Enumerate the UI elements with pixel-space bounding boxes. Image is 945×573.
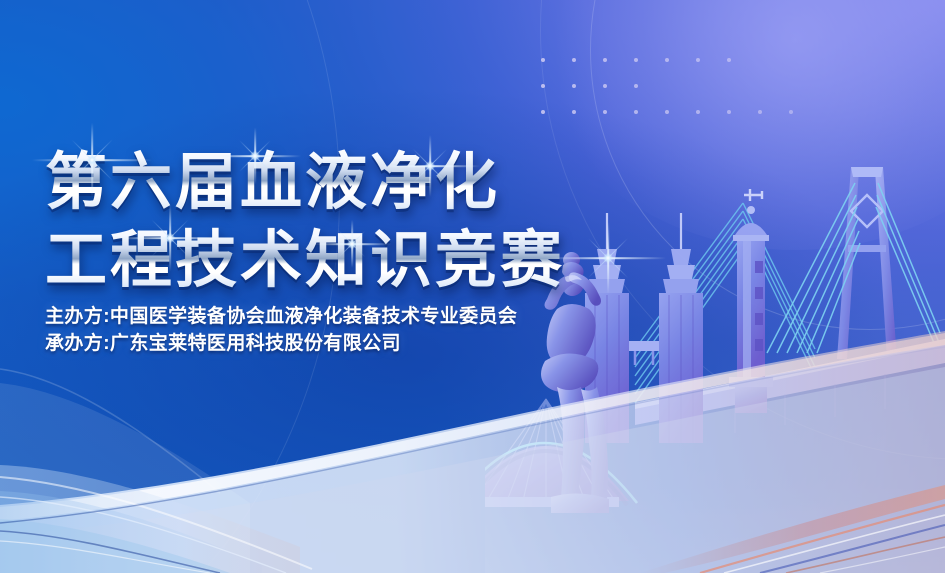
poster-title: 第六届血液净化 工程技术知识竞赛: [45, 146, 685, 298]
dot-grid-dot: [634, 110, 638, 114]
dot-grid-dot: [665, 58, 669, 62]
dot-grid-dot: [696, 110, 700, 114]
dot-grid-dot: [541, 84, 545, 88]
dot-grid-dot: [634, 84, 638, 88]
dot-grid-dot: [541, 58, 545, 62]
dot-grid-dot: [634, 58, 638, 62]
dot-grid-dot: [541, 110, 545, 114]
dot-grid-dot: [665, 110, 669, 114]
title-line-1: 第六届血液净化: [45, 146, 685, 220]
dot-grid-dot: [758, 110, 762, 114]
dot-grid-dot: [727, 110, 731, 114]
dot-grid-dot: [789, 110, 793, 114]
poster-subtitles: 主办方:中国医学装备协会血液净化装备技术专业委员会 承办方:广东宝莱特医用科技股…: [45, 303, 517, 357]
dot-grid-dot: [603, 84, 607, 88]
dot-grid: [541, 58, 741, 130]
dot-grid-dot: [572, 58, 576, 62]
title-line-2: 工程技术知识竞赛: [45, 224, 685, 298]
poster-banner: 第六届血液净化 工程技术知识竞赛 主办方:中国医学装备协会血液净化装备技术专业委…: [0, 0, 945, 573]
dot-grid-dot: [603, 110, 607, 114]
dot-grid-dot: [727, 58, 731, 62]
dot-grid-dot: [696, 58, 700, 62]
dot-grid-dot: [572, 110, 576, 114]
dot-grid-dot: [603, 58, 607, 62]
dot-grid-dot: [572, 84, 576, 88]
organizer-line: 主办方:中国医学装备协会血液净化装备技术专业委员会: [45, 303, 517, 330]
co-organizer-line: 承办方:广东宝莱特医用科技股份有限公司: [45, 330, 517, 357]
